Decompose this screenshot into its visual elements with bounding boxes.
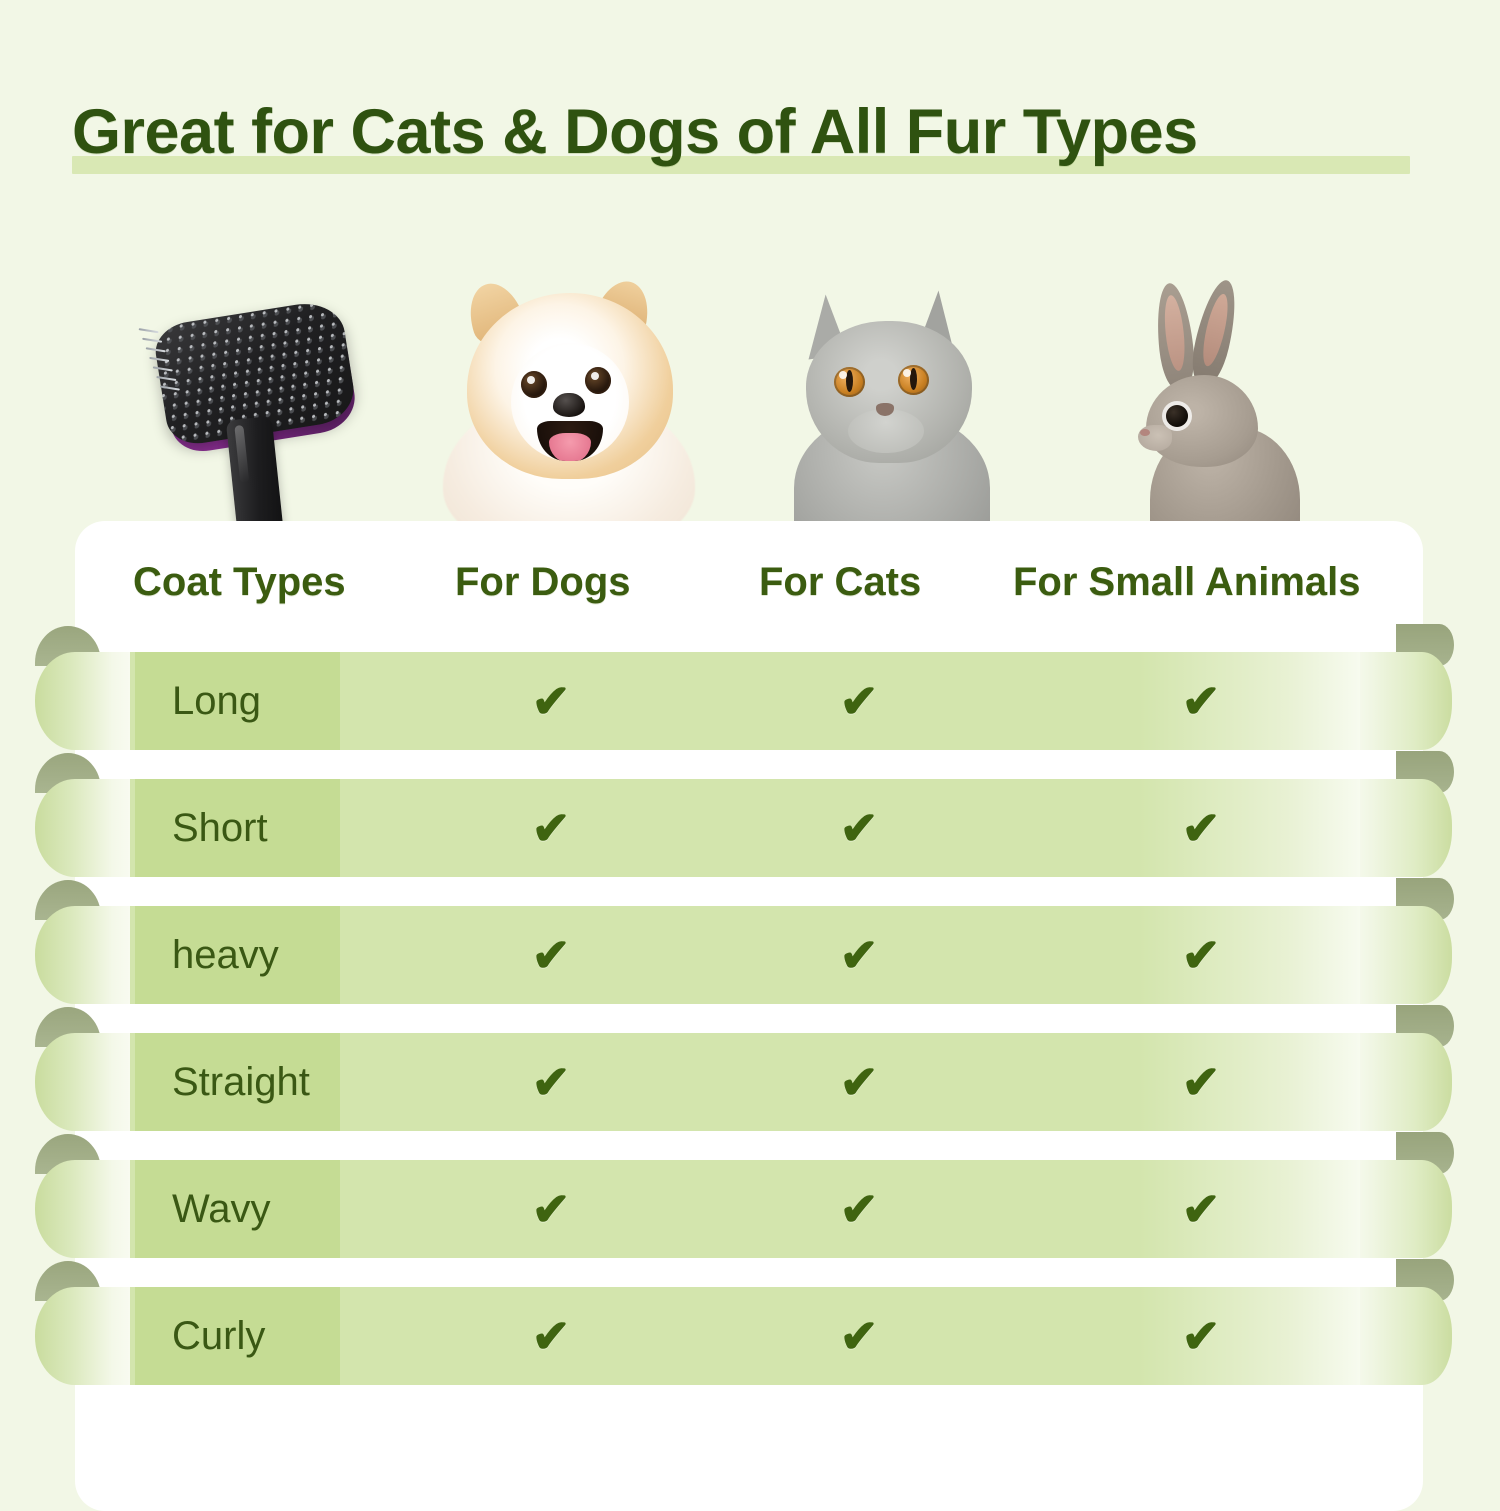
table-row: Straight✔✔✔ bbox=[0, 1033, 1500, 1131]
ribbon-fold-left bbox=[35, 779, 143, 877]
table-header-row: Coat Types For Dogs For Cats For Small A… bbox=[75, 560, 1423, 640]
coat-type-cell: Long bbox=[135, 652, 340, 750]
check-icon-cats: ✔ bbox=[829, 779, 889, 877]
coat-type-label: Straight bbox=[172, 1060, 310, 1105]
column-header-for-dogs: For Dogs bbox=[455, 560, 631, 605]
coat-type-label: Long bbox=[172, 679, 261, 724]
coat-type-label: Curly bbox=[172, 1314, 265, 1359]
check-icon-dogs: ✔ bbox=[521, 1160, 581, 1258]
coat-type-cell: Curly bbox=[135, 1287, 340, 1385]
column-header-for-small-animals: For Small Animals bbox=[1013, 560, 1361, 605]
coat-type-label: heavy bbox=[172, 933, 279, 978]
comparison-table-rows: Long✔✔✔Short✔✔✔heavy✔✔✔Straight✔✔✔Wavy✔✔… bbox=[0, 0, 1500, 1500]
column-header-coat-types: Coat Types bbox=[133, 560, 346, 605]
check-icon-small-animals: ✔ bbox=[1171, 779, 1231, 877]
ribbon-fold-left bbox=[35, 1287, 143, 1385]
table-row: Short✔✔✔ bbox=[0, 779, 1500, 877]
check-icon-cats: ✔ bbox=[829, 1160, 889, 1258]
check-icon-dogs: ✔ bbox=[521, 1033, 581, 1131]
check-icon-cats: ✔ bbox=[829, 652, 889, 750]
check-icon-small-animals: ✔ bbox=[1171, 1033, 1231, 1131]
check-icon-small-animals: ✔ bbox=[1171, 906, 1231, 1004]
coat-type-cell: Wavy bbox=[135, 1160, 340, 1258]
check-icon-dogs: ✔ bbox=[521, 652, 581, 750]
coat-type-cell: Straight bbox=[135, 1033, 340, 1131]
check-icon-cats: ✔ bbox=[829, 906, 889, 1004]
coat-type-cell: Short bbox=[135, 779, 340, 877]
check-icon-dogs: ✔ bbox=[521, 1287, 581, 1385]
table-row: Wavy✔✔✔ bbox=[0, 1160, 1500, 1258]
ribbon-fold-left bbox=[35, 1033, 143, 1131]
check-icon-cats: ✔ bbox=[829, 1287, 889, 1385]
ribbon-fold-left bbox=[35, 906, 143, 1004]
check-icon-small-animals: ✔ bbox=[1171, 652, 1231, 750]
coat-type-label: Wavy bbox=[172, 1187, 271, 1232]
ribbon-fold-left bbox=[35, 1160, 143, 1258]
table-row: heavy✔✔✔ bbox=[0, 906, 1500, 1004]
infographic-stage: Great for Cats & Dogs of All Fur Types bbox=[0, 0, 1500, 1500]
column-header-for-cats: For Cats bbox=[759, 560, 921, 605]
check-icon-small-animals: ✔ bbox=[1171, 1160, 1231, 1258]
check-icon-small-animals: ✔ bbox=[1171, 1287, 1231, 1385]
table-row: Curly✔✔✔ bbox=[0, 1287, 1500, 1385]
table-row: Long✔✔✔ bbox=[0, 652, 1500, 750]
ribbon-fold-left bbox=[35, 652, 143, 750]
coat-type-label: Short bbox=[172, 806, 268, 851]
check-icon-dogs: ✔ bbox=[521, 779, 581, 877]
coat-type-cell: heavy bbox=[135, 906, 340, 1004]
check-icon-dogs: ✔ bbox=[521, 906, 581, 1004]
check-icon-cats: ✔ bbox=[829, 1033, 889, 1131]
